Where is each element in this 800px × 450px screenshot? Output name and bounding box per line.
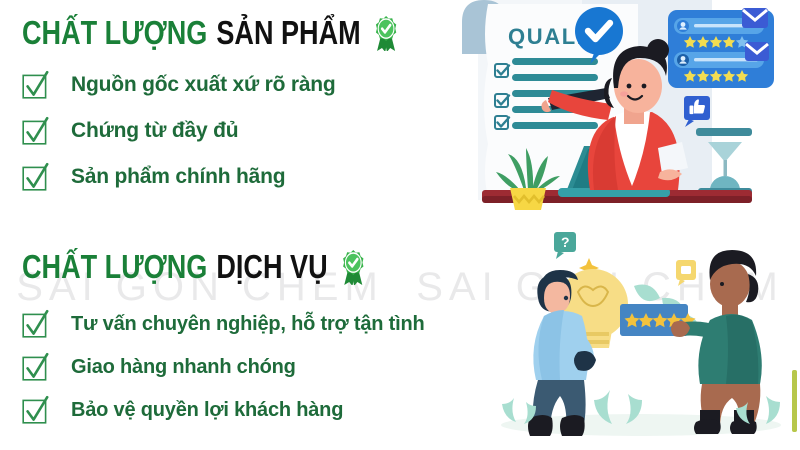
- list-item-label: Bảo vệ quyền lợi khách hàng: [71, 399, 343, 422]
- review-cards: [668, 8, 774, 88]
- list-item[interactable]: Chứng từ đầy đủ: [22, 108, 336, 154]
- list-item-label: Nguồn gốc xuất xứ rõ ràng: [71, 73, 336, 97]
- list-item-label: Giao hàng nhanh chóng: [71, 356, 296, 379]
- question-bubble-icon: ?: [554, 232, 576, 259]
- svg-text:?: ?: [561, 234, 570, 250]
- envelope-icon-2: [745, 42, 769, 61]
- checkbox-checked-icon: [22, 164, 49, 191]
- heading-green-part: CHẤT LƯỢNG: [22, 14, 207, 52]
- quality-checklist-illustration: QUALITY: [462, 0, 800, 216]
- checkbox-checked-icon: [22, 397, 49, 424]
- infographic-canvas: SAI GON CHEM SAI GON CHEM QUALITY: [0, 0, 800, 450]
- list-item-label: Chứng từ đầy đủ: [71, 119, 238, 143]
- heading-black-part: DỊCH VỤ: [216, 248, 327, 286]
- list-item-label: Tư vấn chuyên nghiệp, hỗ trợ tận tình: [71, 313, 425, 336]
- list-item[interactable]: Sản phẩm chính hãng: [22, 154, 336, 200]
- quality-service-list: Tư vấn chuyên nghiệp, hỗ trợ tận tình Gi…: [22, 303, 425, 432]
- checkbox-checked-icon: [22, 311, 49, 338]
- quality-product-list: Nguồn gốc xuất xứ rõ ràng Chứng từ đầy đ…: [22, 62, 336, 200]
- list-item[interactable]: Bảo vệ quyền lợi khách hàng: [22, 389, 425, 432]
- envelope-icon-1: [742, 8, 768, 28]
- section-heading-quality-service: CHẤT LƯỢNG DỊCH VỤ: [22, 248, 367, 286]
- heading-black-part: SẢN PHẨM: [216, 14, 360, 52]
- checkbox-checked-icon: [22, 118, 49, 145]
- note-bubble-icon: [676, 260, 696, 286]
- list-item[interactable]: Giao hàng nhanh chóng: [22, 346, 425, 389]
- checkbox-checked-icon: [22, 354, 49, 381]
- quality-badge-icon: [339, 249, 367, 285]
- list-item[interactable]: Tư vấn chuyên nghiệp, hỗ trợ tận tình: [22, 303, 425, 346]
- heading-green-part: CHẤT LƯỢNG: [22, 248, 207, 286]
- quality-badge-icon: [372, 15, 400, 51]
- list-item[interactable]: Nguồn gốc xuất xứ rõ ràng: [22, 62, 336, 108]
- checkbox-checked-icon: [22, 72, 49, 99]
- section-heading-quality-product: CHẤT LƯỢNG SẢN PHẨM: [22, 14, 400, 52]
- service-rating-illustration: ?: [486, 222, 800, 450]
- edge-accent-bar: [792, 370, 797, 432]
- list-item-label: Sản phẩm chính hãng: [71, 165, 285, 189]
- text-column: CHẤT LƯỢNG SẢN PHẨM: [0, 0, 470, 450]
